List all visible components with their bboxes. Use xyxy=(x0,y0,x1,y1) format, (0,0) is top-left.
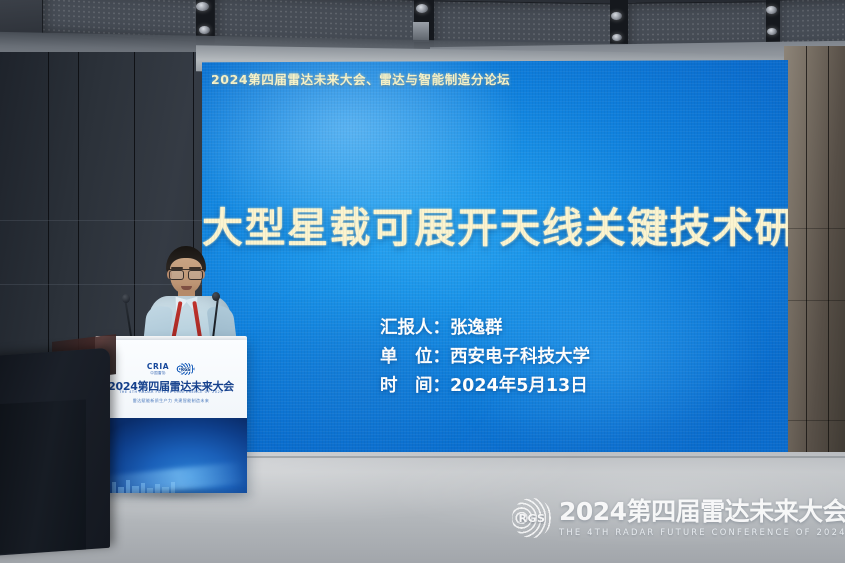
ceiling-spotlight xyxy=(611,12,622,20)
podium-conference-title-en: THE 4TH RADAR FUTURE CONFERENCE OF 2024 xyxy=(95,390,247,394)
podium-floor-shadow xyxy=(92,487,256,501)
podium: CRIA 中国雷协 RGS 2024第四届雷达未来大会 THE 4TH RADA… xyxy=(95,340,247,493)
conference-watermark: RGS 2024第四届雷达未来大会 THE 4TH RADAR FUTURE C… xyxy=(512,498,845,538)
wall-seam xyxy=(806,46,807,484)
ceiling-spotlight xyxy=(612,34,622,41)
mic-head xyxy=(122,294,130,303)
wall-seam xyxy=(828,46,829,484)
watermark-title: 2024第四届雷达未来大会 xyxy=(559,499,845,524)
presentation-screen: 2024第四届雷达未来大会、雷达与智能制造分论坛 大型星载可展开天线关键技术研究… xyxy=(202,60,788,459)
wall-seam xyxy=(0,220,208,221)
wall-seam xyxy=(784,228,845,229)
rgs-watermark-logo-icon: RGS xyxy=(512,498,552,538)
podium-tagline: 雷达赋能新质生产力 共建智能制造未来 xyxy=(95,398,247,404)
ceiling-spotlight xyxy=(199,26,210,34)
ceiling-spotlight xyxy=(766,6,777,14)
cria-logo-icon: CRIA 中国雷协 xyxy=(147,363,169,375)
slide-title: 大型星载可展开天线关键技术研究 xyxy=(202,194,788,254)
rgs-logo-text: RGS xyxy=(180,367,191,372)
podium-logo-row: CRIA 中国雷协 RGS xyxy=(95,363,247,375)
watermark-subtitle: THE 4TH RADAR FUTURE CONFERENCE OF 2024 xyxy=(559,528,845,536)
slide-meta-affiliation: 单 位：西安电子科技大学 xyxy=(380,343,590,372)
foreground-chair xyxy=(0,399,86,554)
mic-head xyxy=(212,292,220,301)
rgs-logo-icon: RGS xyxy=(176,363,195,375)
wall-seam xyxy=(784,300,845,301)
glasses-icon xyxy=(169,269,203,279)
ceiling-spotlight xyxy=(196,2,209,11)
slide-meta-date: 时 间：2024年5月13日 xyxy=(380,372,590,401)
rgs-watermark-logo-text: RGS xyxy=(519,512,546,525)
cria-logo-subtext: 中国雷协 xyxy=(150,372,166,376)
slide-banner-text: 2024第四届雷达未来大会、雷达与智能制造分论坛 xyxy=(211,69,510,88)
wall-panel-right xyxy=(784,46,845,484)
ceiling-spotlight xyxy=(767,28,777,35)
wall-seam xyxy=(784,420,845,421)
watermark-text-block: 2024第四届雷达未来大会 THE 4TH RADAR FUTURE CONFE… xyxy=(559,499,845,536)
ceiling-spotlight xyxy=(416,4,428,13)
slide-meta-block: 汇报人：张逸群 单 位：西安电子科技大学 时 间：2024年5月13日 xyxy=(380,314,590,401)
cria-logo-text: CRIA xyxy=(147,363,169,371)
conference-photo: 2024第四届雷达未来大会、雷达与智能制造分论坛 大型星载可展开天线关键技术研究… xyxy=(0,0,845,563)
podium-upper-panel: CRIA 中国雷协 RGS 2024第四届雷达未来大会 THE 4TH RADA… xyxy=(95,340,247,418)
slide-meta-presenter: 汇报人：张逸群 xyxy=(380,314,590,343)
podium-lower-panel: 雷达与智能制造分论坛 xyxy=(95,418,247,493)
